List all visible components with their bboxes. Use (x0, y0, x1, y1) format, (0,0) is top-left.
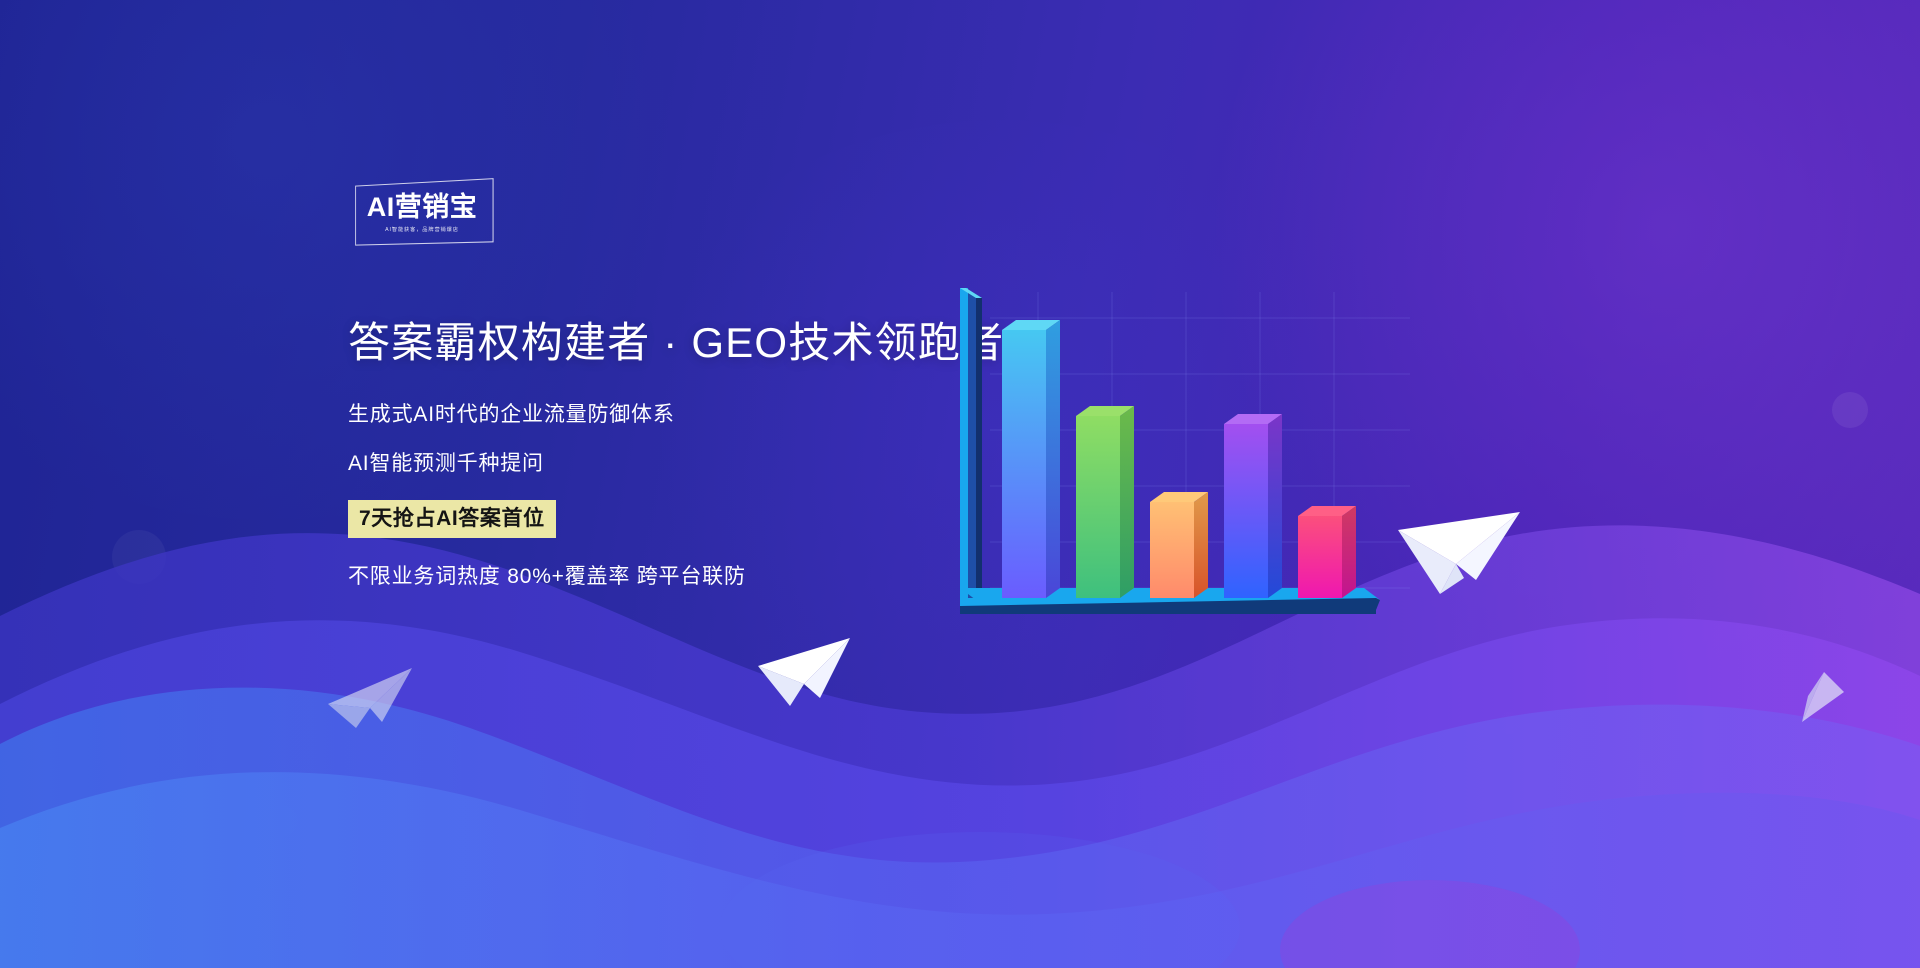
hero-copy: 答案霸权构建者 · GEO技术领跑者 生成式AI时代的企业流量防御体系 AI智能… (348, 318, 1028, 587)
chart-bar (1002, 320, 1060, 598)
bar-chart (960, 288, 1420, 668)
bubble-decor (1832, 392, 1868, 428)
logo-tagline: AI智能获客，品牌营销爆店 (352, 226, 492, 233)
chart-bar (1150, 492, 1208, 598)
chart-bar (1224, 414, 1282, 598)
chart-bar (1076, 406, 1134, 598)
subtitle-line-2: AI智能预测千种提问 (348, 453, 1028, 474)
highlight-wrapper: 7天抢占AI答案首位 (348, 500, 1028, 538)
paper-plane-icon (756, 636, 852, 710)
chart-bar (1298, 506, 1356, 598)
page-title: 答案霸权构建者 · GEO技术领跑者 (348, 318, 1028, 368)
hero-banner: AI营销宝 AI智能获客，品牌营销爆店 答案霸权构建者 · GEO技术领跑者 生… (0, 0, 1920, 968)
highlight-badge: 7天抢占AI答案首位 (348, 500, 556, 538)
logo-name: AI营销宝 (352, 194, 492, 221)
paper-plane-icon (1790, 670, 1846, 726)
subtitle-line-1: 生成式AI时代的企业流量防御体系 (348, 404, 1028, 425)
chart-y-axis (960, 288, 982, 606)
subtitle-line-4: 不限业务词热度 80%+覆盖率 跨平台联防 (348, 566, 1028, 587)
paper-plane-icon (326, 664, 416, 732)
paper-plane-icon (1396, 508, 1522, 600)
brand-logo[interactable]: AI营销宝 AI智能获客，品牌营销爆店 (352, 182, 492, 244)
